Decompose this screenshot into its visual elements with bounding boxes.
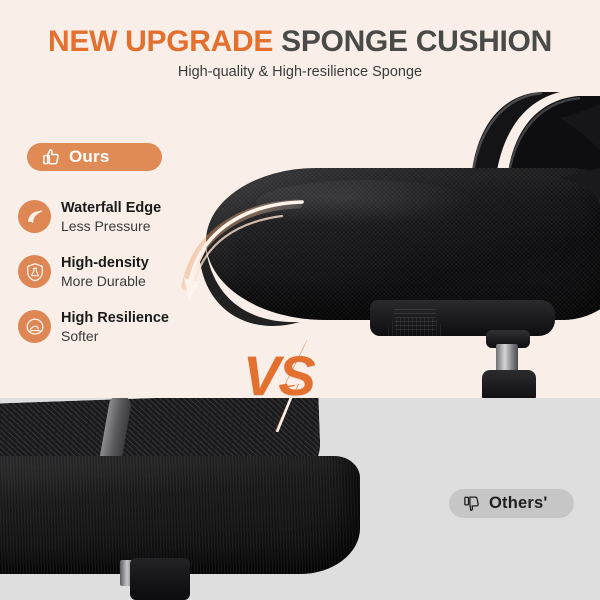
feature-title: High Resilience xyxy=(61,310,169,326)
feature-item-waterfall-edge: Waterfall Edge Less Pressure xyxy=(18,198,218,253)
feature-item-high-resilience: High Resilience Softer xyxy=(18,308,218,363)
feature-list: Waterfall Edge Less Pressure High-densit… xyxy=(18,198,218,363)
vs-label: VS xyxy=(243,348,314,404)
resilience-cushion-icon xyxy=(18,310,51,343)
badge-others-label: Others' xyxy=(489,494,548,513)
title-highlight: NEW UPGRADE xyxy=(48,25,273,58)
page-title: NEW UPGRADE SPONGE CUSHION xyxy=(0,25,600,59)
seat-cushion-flat xyxy=(0,456,360,574)
badge-ours[interactable]: Ours xyxy=(27,143,162,171)
waterfall-edge-icon xyxy=(18,200,51,233)
thumbs-down-icon xyxy=(462,494,481,513)
badge-ours-label: Ours xyxy=(69,147,109,167)
page-subtitle: High-quality & High-resilience Sponge xyxy=(0,64,600,80)
ours-panel: Ours Waterfall Edge Less Pressure xyxy=(0,0,600,398)
feature-subtitle: More Durable xyxy=(61,272,149,290)
feature-title: Waterfall Edge xyxy=(61,200,161,216)
vs-divider: VS xyxy=(243,348,353,428)
thumbs-up-icon xyxy=(41,147,61,167)
product-infographic: Ours Waterfall Edge Less Pressure xyxy=(0,0,600,600)
tension-knob xyxy=(388,318,442,372)
title-rest: SPONGE CUSHION xyxy=(273,25,552,58)
feature-item-high-density: High-density More Durable xyxy=(18,253,218,308)
fabric-texture xyxy=(0,456,360,574)
feature-subtitle: Softer xyxy=(61,327,169,345)
badge-others[interactable]: Others' xyxy=(449,489,574,518)
chair-base-stem xyxy=(130,558,190,600)
feature-subtitle: Less Pressure xyxy=(61,217,161,235)
header: NEW UPGRADE SPONGE CUSHION High-quality … xyxy=(0,0,600,98)
feature-title: High-density xyxy=(61,255,149,271)
gas-lift-cylinder xyxy=(482,370,536,398)
shield-density-icon xyxy=(18,255,51,288)
